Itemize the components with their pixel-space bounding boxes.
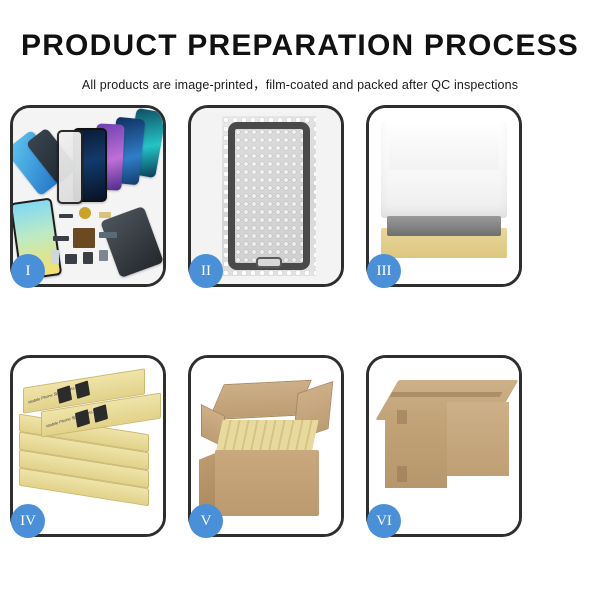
process-step-panel-3: III xyxy=(366,105,522,287)
step-badge-3: III xyxy=(367,254,401,288)
step-badge-5: V xyxy=(189,504,223,538)
step-badge-2: II xyxy=(189,254,223,288)
part-icon xyxy=(83,252,93,264)
screen-panel-icon xyxy=(228,122,310,270)
process-step-panel-5: V xyxy=(188,355,344,537)
yellow-inner-box-icon xyxy=(381,228,507,258)
phone-screen-protector-icon xyxy=(57,130,83,204)
part-icon xyxy=(99,232,117,238)
page-header: PRODUCT PREPARATION PROCESS All products… xyxy=(0,0,600,93)
foam-lining-icon xyxy=(381,122,507,218)
box-art-chip-icon xyxy=(75,380,90,399)
inner-boxes-in-carton-icon xyxy=(215,420,318,454)
part-icon xyxy=(65,254,77,264)
wrapped-screen-icon xyxy=(387,216,501,236)
process-step-panel-1: I xyxy=(10,105,166,287)
step-badge-1: I xyxy=(11,254,45,288)
process-steps-grid: I II III xyxy=(10,105,590,537)
carton-front-icon xyxy=(215,450,319,516)
box-art-chip-icon xyxy=(75,409,90,428)
part-icon xyxy=(53,236,69,241)
box-art-chip-icon xyxy=(57,385,72,404)
carton-front-face-icon xyxy=(385,414,447,488)
part-icon xyxy=(59,214,73,218)
step-badge-4: IV xyxy=(11,504,45,538)
part-icon xyxy=(79,207,91,219)
process-step-panel-4: Mobile Phone Spare Parts Mobile Phone Sp… xyxy=(10,355,166,537)
part-icon xyxy=(99,212,111,218)
tape-seam-icon xyxy=(390,392,503,397)
process-step-panel-2: II xyxy=(188,105,344,287)
home-button-icon xyxy=(256,257,282,268)
part-icon xyxy=(73,228,95,248)
process-step-panel-6: VI xyxy=(366,355,522,537)
carton-side-face-icon xyxy=(447,402,509,476)
page-subtitle: All products are image-printed，film-coat… xyxy=(0,74,600,93)
step-badge-6: VI xyxy=(367,504,401,538)
tape-strip-icon xyxy=(397,410,407,424)
box-stack: Mobile Phone Spare Parts Mobile Phone Sp… xyxy=(19,374,163,514)
tape-strip-icon xyxy=(397,466,407,482)
bubble-film-icon xyxy=(222,116,316,276)
part-icon xyxy=(99,250,108,261)
page-title: PRODUCT PREPARATION PROCESS xyxy=(0,30,600,62)
box-art-chip-icon xyxy=(93,404,108,423)
part-icon xyxy=(51,250,59,264)
